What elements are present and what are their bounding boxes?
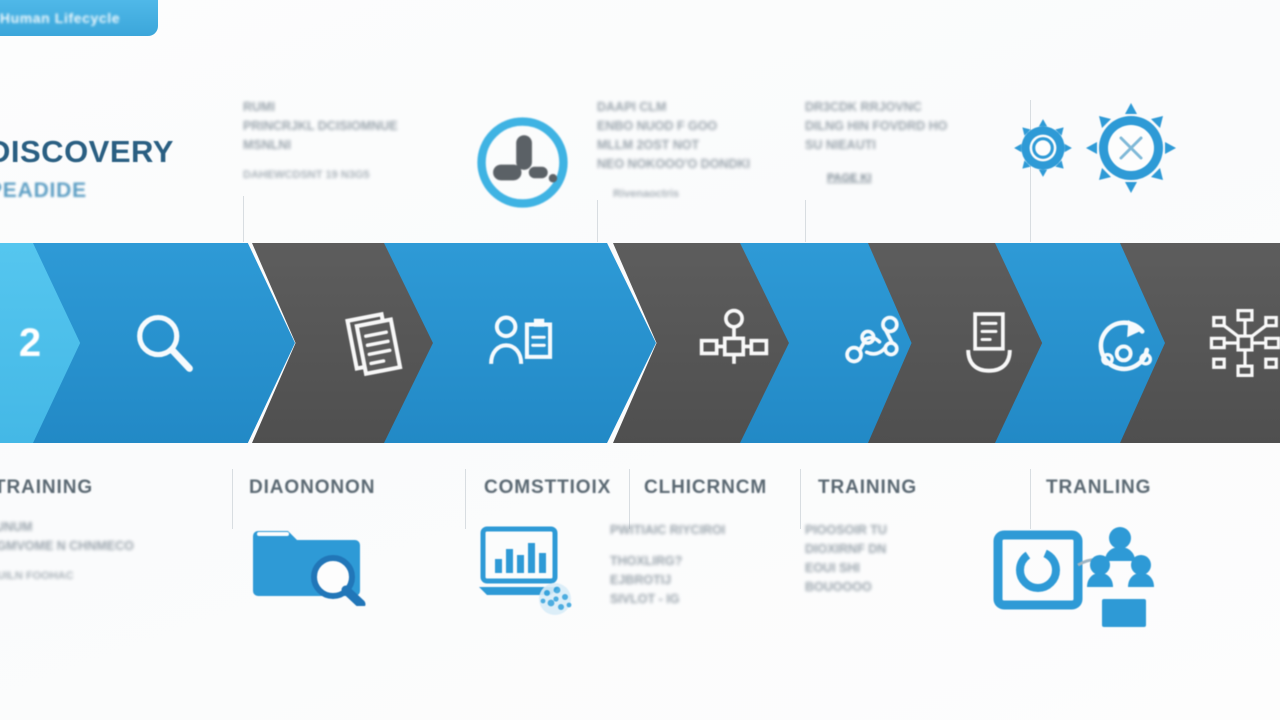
page-title-group: DISCOVERY PEADIDE xyxy=(0,134,174,203)
top-note-2: DAAPI CLM ENBO NUOD F GOO MLLM 2OST NOT … xyxy=(597,98,750,203)
page-subtitle: PEADIDE xyxy=(0,179,174,203)
note-line: NEO NOKOOO'O DONDKI xyxy=(597,155,750,174)
top-note-1: RUMI PRINCRJKL DCISIOMNUE MSNLNI DAHEWCD… xyxy=(243,98,398,184)
corner-tab[interactable]: Human Lifecycle xyxy=(0,0,158,36)
note-line: MLLM 2OST NOT xyxy=(597,136,750,155)
bottom-col-heading: TRAINING xyxy=(0,477,93,499)
pills-circle-icon xyxy=(470,110,575,210)
note-line: RUMI xyxy=(243,98,398,117)
connector-rule xyxy=(465,469,466,529)
magnifier-icon xyxy=(127,306,201,380)
square-cycle-people-icon xyxy=(992,521,1172,631)
bottom-note-5: PIOOSOIR TU DIOXIRNF DN EOUI SHI BOUOOOO xyxy=(805,521,887,597)
note-line: SIVLOT - IG xyxy=(610,590,725,609)
infographic-slide: Human Lifecycle DISCOVERY PEADIDE RUMI P… xyxy=(0,0,1280,720)
note-line: EOUI SHI xyxy=(805,559,887,578)
cycle-arrow-icon xyxy=(1089,306,1163,380)
connector-rule xyxy=(800,469,801,529)
gear-small-icon xyxy=(1010,115,1076,181)
note-footnote-link[interactable]: PAGE KI xyxy=(827,169,871,188)
laptop-chart-icon xyxy=(477,523,587,615)
connector-rule xyxy=(805,200,806,242)
note-footnote: DAHEWCDSNT 19 N3G5 xyxy=(243,167,398,184)
note-line: EJBROTIJ xyxy=(610,571,725,590)
note-line: BOUOOOO xyxy=(805,578,887,597)
note-footnote: Rivenaoctris xyxy=(613,186,750,203)
chevron-step-number: 2 xyxy=(19,321,41,366)
process-chevron-band: 2 xyxy=(0,243,1280,443)
person-clipboard-icon xyxy=(483,306,557,380)
note-line: JUNUM xyxy=(0,518,134,537)
folder-search-icon xyxy=(249,520,369,606)
note-line: DAAPI CLM xyxy=(597,98,750,117)
bottom-note-1: JUNUM SGMVOME N CHNMECO MUILN FOOHAC xyxy=(0,518,134,585)
connector-rule xyxy=(1030,469,1031,529)
bottom-col-heading: DIAONONON xyxy=(249,477,375,499)
note-line: DILNG HIN FOVDRD HO xyxy=(805,117,947,136)
bottom-col-6: TRANLING xyxy=(1046,477,1151,499)
bottom-col-3: COMSTTIOIX xyxy=(484,477,611,499)
note-line: THOXLIRG? xyxy=(610,552,725,571)
corner-tab-label: Human Lifecycle xyxy=(0,10,120,26)
bottom-col-heading: TRANLING xyxy=(1046,477,1151,499)
connector-rule xyxy=(232,469,233,529)
top-note-3: DR3CDK RRJOVNC DILNG HIN FOVDRD HO SU NI… xyxy=(805,98,947,188)
org-network-icon xyxy=(697,306,771,380)
note-line: SU NIEAUTI xyxy=(805,136,947,155)
bottom-col-5: TRAINING xyxy=(818,477,917,499)
connector-rule xyxy=(597,200,598,242)
note-line: SGMVOME N CHNMECO xyxy=(0,537,134,556)
mindmap-icon xyxy=(1208,306,1280,380)
bottom-col-heading: CLHICRNCM xyxy=(644,477,767,499)
bottom-col-heading: TRAINING xyxy=(818,477,917,499)
connector-rule xyxy=(629,469,630,529)
note-line: MSNLNI xyxy=(243,136,398,155)
bottom-caption-row: TRAINING JUNUM SGMVOME N CHNMECO MUILN F… xyxy=(0,463,1280,720)
bottom-note-4: PWITIAIC RIYCIROI THOXLIRG? EJBROTIJ SIV… xyxy=(610,521,725,609)
note-line: PRINCRJKL DCISIOMNUE xyxy=(243,117,398,136)
note-line: DR3CDK RRJOVNC xyxy=(805,98,947,117)
note-footnote: MUILN FOOHAC xyxy=(0,568,134,585)
note-line: PIOOSOIR TU xyxy=(805,521,887,540)
documents-icon xyxy=(336,306,410,380)
note-line: ENBO NUOD F GOO xyxy=(597,117,750,136)
note-line: DIOXIRNF DN xyxy=(805,540,887,559)
bottom-col-1: TRAINING xyxy=(0,477,93,499)
gear-tools-icon xyxy=(1083,100,1179,196)
bottom-col-4: CLHICRNCM xyxy=(644,477,767,499)
hand-document-icon xyxy=(952,306,1026,380)
note-line: PWITIAIC RIYCIROI xyxy=(610,521,725,540)
bottom-col-2: DIAONONON xyxy=(249,477,375,499)
bottom-col-heading: COMSTTIOIX xyxy=(484,477,611,499)
page-title: DISCOVERY xyxy=(0,134,174,170)
connector-rule xyxy=(243,196,244,242)
